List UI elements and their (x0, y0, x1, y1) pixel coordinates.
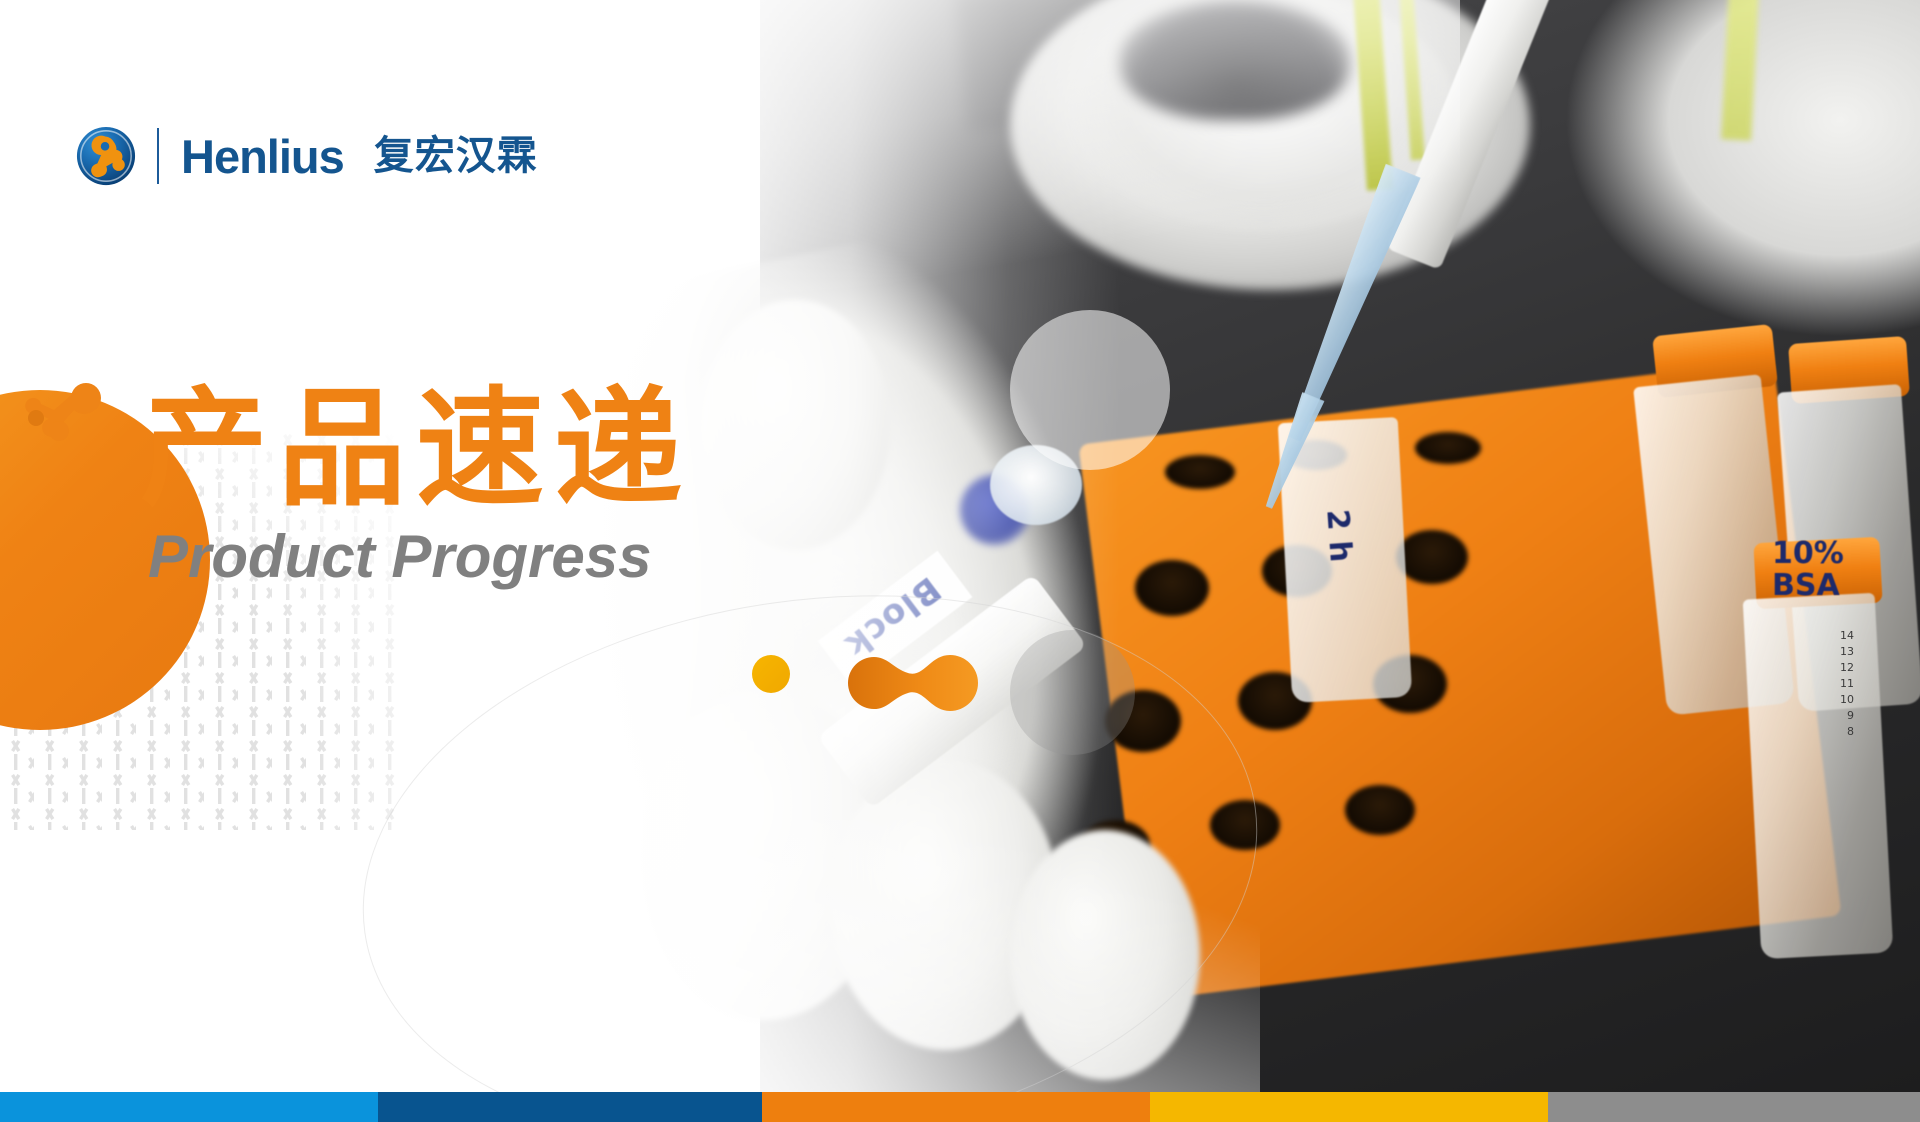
presentation-slide: 2 h 10% BSA 141312111098 Block (0, 0, 1920, 1122)
rack-hole (1165, 455, 1235, 489)
yellow-accent-dot (752, 655, 790, 693)
colorbar-segment-yellow (1150, 1092, 1548, 1122)
molecule-three-node-icon (22, 378, 112, 458)
tube-body (1743, 593, 1894, 959)
tube-handwriting: 2 h (1321, 508, 1356, 563)
colorbar-segment-gray (1548, 1092, 1920, 1122)
rack-hole (1135, 560, 1209, 616)
henlius-logo[interactable]: Henlius 复宏汉霖 (75, 125, 538, 187)
colorbar-segment-light-blue (0, 1092, 378, 1122)
molecule-dumbbell-icon (848, 645, 998, 721)
tube-handwriting: 10% BSA (1772, 538, 1920, 601)
gray-accent-circle (1010, 630, 1135, 755)
brand-color-bar (0, 1092, 1920, 1122)
logo-divider (157, 128, 159, 184)
page-title-english: Product Progress (148, 522, 651, 591)
rack-hole (1415, 432, 1481, 464)
tube-graduation-marks: 141312111098 (1840, 628, 1854, 740)
logo-wordmark: Henlius (181, 133, 344, 180)
page-title-chinese: 产品速递 (140, 378, 692, 521)
colorbar-segment-orange (762, 1092, 1150, 1122)
rack-hole (1345, 785, 1415, 835)
white-accent-circle (1010, 310, 1170, 470)
rack-hole (1396, 530, 1468, 584)
photo-top-fade (560, 0, 1460, 300)
photo-bottom-fade (560, 820, 1260, 1092)
logo-chinese-name: 复宏汉霖 (374, 136, 538, 176)
colorbar-segment-dark-blue (378, 1092, 762, 1122)
henlius-molecule-mark-icon (75, 125, 137, 187)
